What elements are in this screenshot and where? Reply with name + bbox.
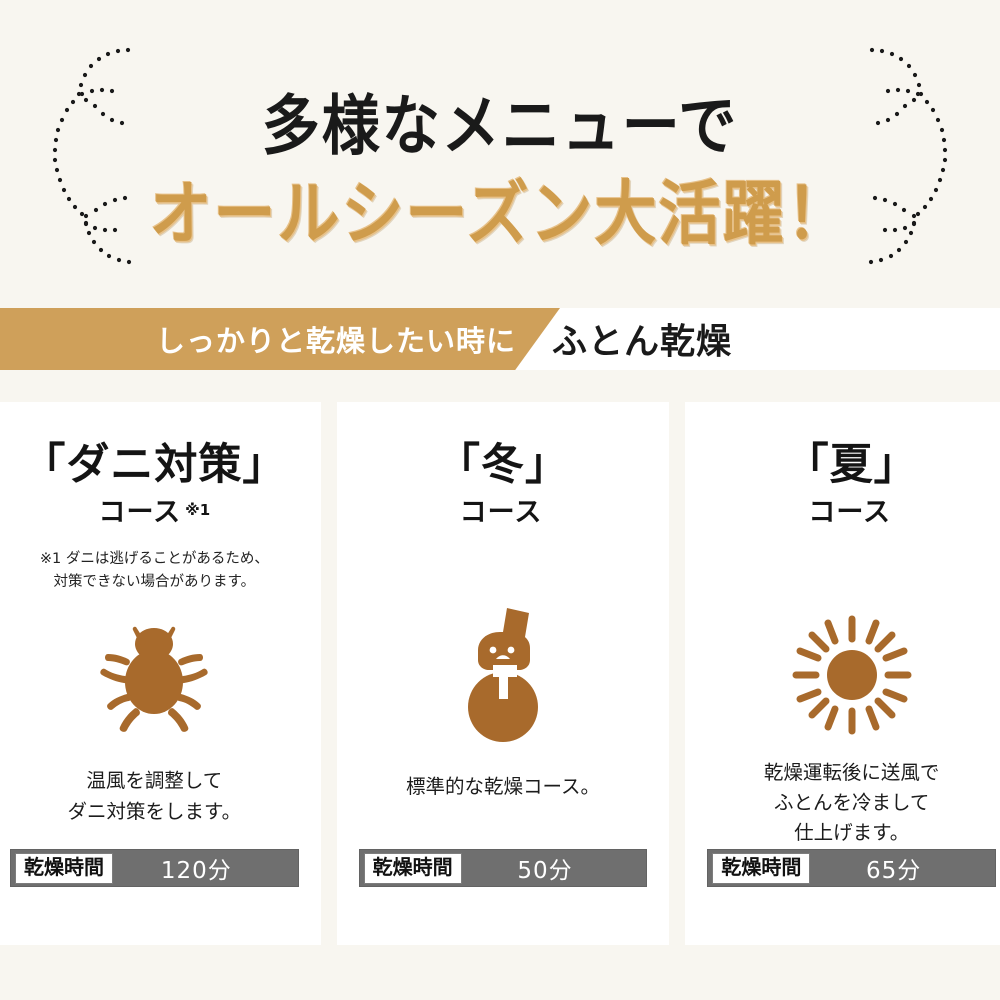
card-title: 「夏」 コース [786,444,918,526]
drying-time-label: 乾燥時間 [15,853,113,884]
drying-time-bar: 乾燥時間 120分 [10,849,299,887]
card-title-sub-row: コース [437,499,569,526]
mite-icon [92,618,216,736]
course-card-winter[interactable]: 「冬」 コース [337,402,670,945]
card-title-main: 「ダニ対策」 [22,444,286,487]
infographic-page: 多様なメニューで オールシーズン大活躍！ しっかりと乾燥したい時に ふとん乾燥 … [0,0,1000,1000]
drying-time-label: 乾燥時間 [712,853,810,884]
card-icon-wrap [92,602,216,752]
card-title-main: 「冬」 [437,444,569,487]
card-title-main: 「夏」 [786,444,918,487]
headline-line-1: 多様なメニューで [0,90,1000,163]
card-title-sub-row: コース [786,499,918,526]
card-icon-wrap [790,600,914,750]
snowman-icon [447,604,559,746]
card-title-sub-row: コース※1 [22,499,286,526]
card-icon-wrap [447,600,559,750]
banner-gold-shape: しっかりと乾燥したい時に [0,308,560,370]
card-description: 温風を調整して ダニ対策をします。 [50,766,260,826]
card-title-sub: コース [460,497,543,528]
drying-time-bar: 乾燥時間 50分 [359,849,648,887]
banner-title: ふとん乾燥 [552,314,732,365]
card-footnote: ※1 ダニは逃げることがあるため、 対策できない場合があります。 [0,548,321,594]
drying-time-value: 65分 [810,851,995,885]
card-description: 乾燥運転後に送風で ふとんを冷まして 仕上げます。 [746,758,958,849]
section-banner: しっかりと乾燥したい時に ふとん乾燥 [0,308,1000,370]
course-card-summer[interactable]: 「夏」 コース [685,402,1000,945]
sun-icon [790,613,914,737]
card-title: 「冬」 コース [437,444,569,526]
banner-tagline: しっかりと乾燥したい時に [156,318,516,360]
card-description: 標準的な乾燥コース。 [388,772,618,802]
headline-line-2: オールシーズン大活躍！ [0,175,1000,253]
hero-section: 多様なメニューで オールシーズン大活躍！ [0,0,1000,300]
hero-headline: 多様なメニューで オールシーズン大活躍！ [0,90,1000,244]
course-card-dani[interactable]: 「ダニ対策」 コース※1 ※1 ダニは逃げることがあるため、 対策できない場合が… [0,402,321,945]
card-title-sub: コース [98,497,181,528]
drying-time-label: 乾燥時間 [364,853,462,884]
drying-time-value: 50分 [462,851,647,885]
drying-time-bar: 乾燥時間 65分 [707,849,996,887]
card-title-sub: コース [808,497,891,528]
card-note-mark: ※1 [185,501,210,519]
course-card-list: 「ダニ対策」 コース※1 ※1 ダニは逃げることがあるため、 対策できない場合が… [0,402,1000,945]
drying-time-value: 120分 [113,851,298,885]
card-title: 「ダニ対策」 コース※1 [22,444,286,526]
